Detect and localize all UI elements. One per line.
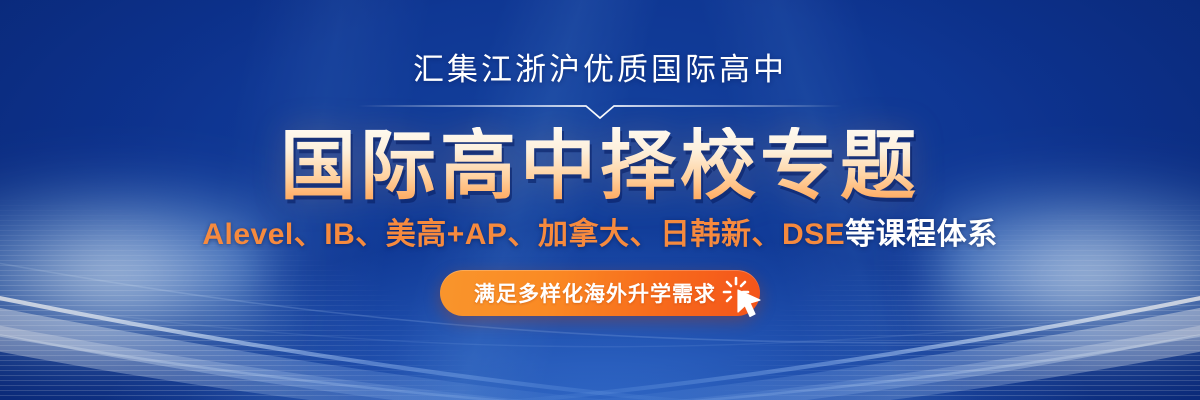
banner-headline: 国际高中择校专题 bbox=[280, 127, 920, 206]
course-tail-text: 等课程体系 bbox=[845, 218, 998, 251]
cta-button[interactable]: 满足多样化海外升学需求 bbox=[440, 270, 760, 316]
divider bbox=[358, 101, 842, 121]
banner-content: 汇集江浙沪优质国际高中 国际高中择校专题 Alevel、IB、美高+AP、加拿大… bbox=[0, 0, 1200, 400]
chevron-down-icon bbox=[358, 106, 842, 118]
banner-kicker: 汇集江浙沪优质国际高中 bbox=[413, 54, 787, 85]
course-highlight-text: Alevel、IB、美高+AP、加拿大、日韩新、DSE bbox=[202, 218, 845, 251]
promo-banner: 汇集江浙沪优质国际高中 国际高中择校专题 Alevel、IB、美高+AP、加拿大… bbox=[0, 0, 1200, 400]
banner-course-line: Alevel、IB、美高+AP、加拿大、日韩新、DSE等课程体系 bbox=[202, 220, 997, 250]
cta-container: 满足多样化海外升学需求 bbox=[440, 270, 760, 316]
